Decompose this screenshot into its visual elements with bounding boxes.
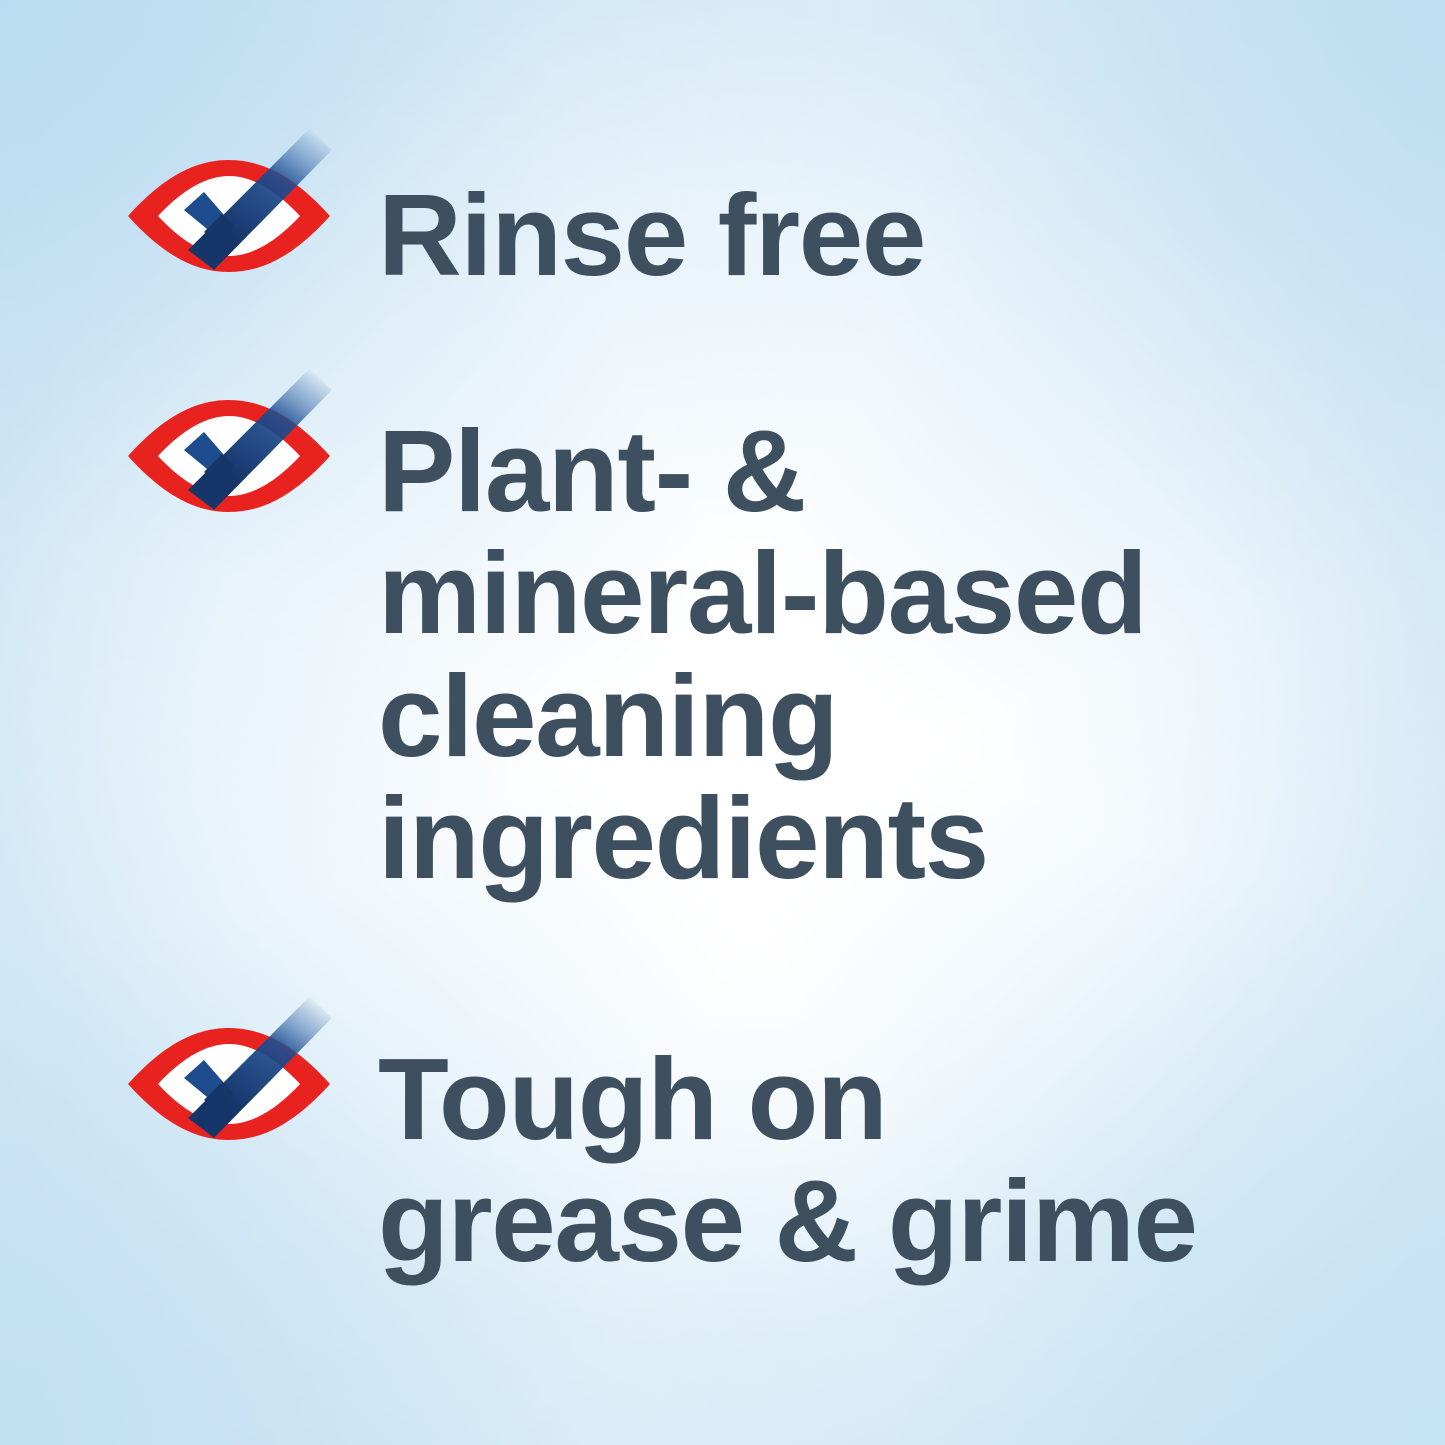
red-lens-blue-checkmark-icon: [118, 1006, 340, 1156]
benefit-item: Rinse free: [118, 138, 925, 296]
benefit-item: Tough on grease & grime: [118, 1006, 1197, 1283]
benefit-label: Plant- & mineral-based cleaning ingredie…: [378, 378, 1146, 900]
red-lens-blue-checkmark-icon: [118, 138, 340, 288]
benefits-card: Rinse free: [0, 0, 1445, 1445]
benefit-item: Plant- & mineral-based cleaning ingredie…: [118, 378, 1146, 900]
benefit-label: Tough on grease & grime: [378, 1006, 1197, 1283]
red-lens-blue-checkmark-icon: [118, 378, 340, 528]
benefit-label: Rinse free: [378, 138, 925, 296]
benefit-list: Rinse free: [0, 0, 1445, 1445]
